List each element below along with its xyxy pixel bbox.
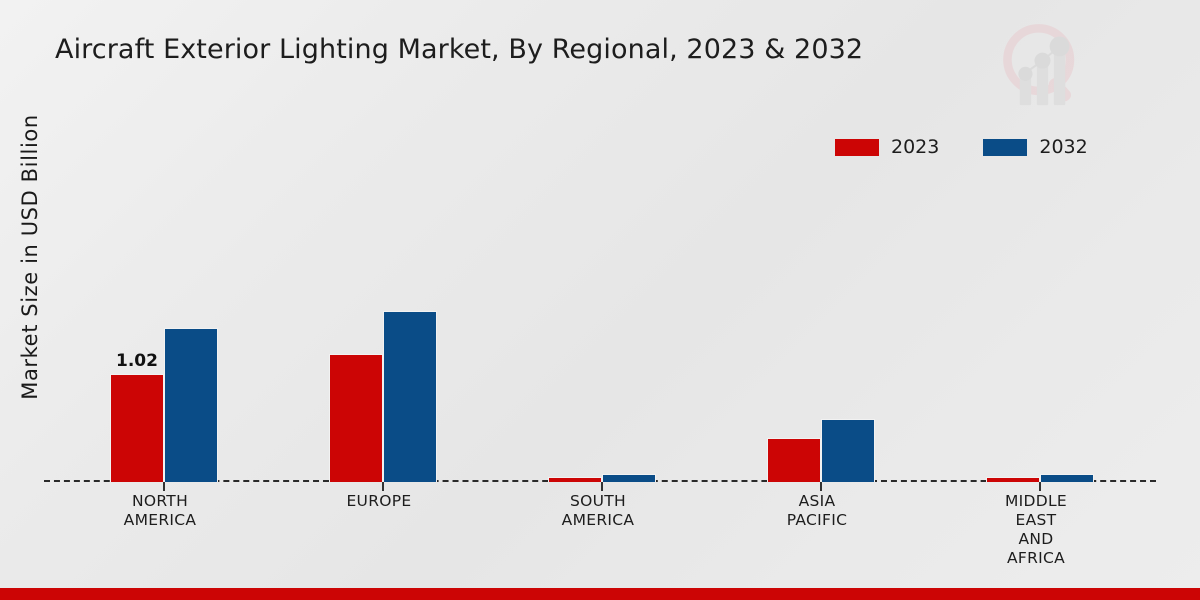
bar-2023-south-america[interactable] xyxy=(548,477,602,482)
x-tick-europe xyxy=(382,482,384,491)
x-label-line: SOUTH xyxy=(538,492,658,511)
x-label-line: AMERICA xyxy=(538,511,658,530)
x-tick-south-america xyxy=(601,482,603,491)
bar-group-south-america xyxy=(548,150,656,482)
bar-value-2023-north-america: 1.02 xyxy=(116,351,158,371)
bar-2032-middle-east-and-africa[interactable] xyxy=(1040,474,1094,482)
x-label-north-america: NORTH AMERICA xyxy=(100,492,220,530)
chart-title: Aircraft Exterior Lighting Market, By Re… xyxy=(55,34,863,65)
chart-canvas: Aircraft Exterior Lighting Market, By Re… xyxy=(0,0,1200,600)
bar-2032-asia-pacific[interactable] xyxy=(821,419,875,482)
x-tick-middle-east-and-africa xyxy=(1039,482,1041,491)
x-label-asia-pacific: ASIA PACIFIC xyxy=(757,492,877,530)
x-label-europe: EUROPE xyxy=(319,492,439,511)
x-tick-north-america xyxy=(163,482,165,491)
watermark-logo-icon xyxy=(995,18,1090,108)
x-label-line: EAST xyxy=(976,511,1096,530)
bottom-accent-bar xyxy=(0,588,1200,600)
bar-group-europe xyxy=(329,150,437,482)
x-label-line: NORTH xyxy=(100,492,220,511)
x-label-line: ASIA xyxy=(757,492,877,511)
bar-2023-north-america[interactable]: 1.02 xyxy=(110,374,164,482)
x-label-middle-east-and-africa: MIDDLE EAST AND AFRICA xyxy=(976,492,1096,568)
bar-group-north-america: 1.02 xyxy=(110,150,218,482)
bar-2023-europe[interactable] xyxy=(329,354,383,482)
bar-2023-asia-pacific[interactable] xyxy=(767,438,821,482)
x-tick-asia-pacific xyxy=(820,482,822,491)
bar-2032-south-america[interactable] xyxy=(602,474,656,482)
bar-2023-middle-east-and-africa[interactable] xyxy=(986,477,1040,482)
x-label-line: PACIFIC xyxy=(757,511,877,530)
x-label-line: AFRICA xyxy=(976,549,1096,568)
x-label-line: AND xyxy=(976,530,1096,549)
bar-group-middle-east-and-africa xyxy=(986,150,1094,482)
x-label-line: MIDDLE xyxy=(976,492,1096,511)
bar-2032-europe[interactable] xyxy=(383,311,437,482)
bar-group-asia-pacific xyxy=(767,150,875,482)
x-label-south-america: SOUTH AMERICA xyxy=(538,492,658,530)
bar-2032-north-america[interactable] xyxy=(164,328,218,482)
y-axis-title: Market Size in USD Billion xyxy=(18,92,42,422)
x-label-line: EUROPE xyxy=(319,492,439,511)
plot-area: 1.02 xyxy=(44,150,1156,482)
x-label-line: AMERICA xyxy=(100,511,220,530)
